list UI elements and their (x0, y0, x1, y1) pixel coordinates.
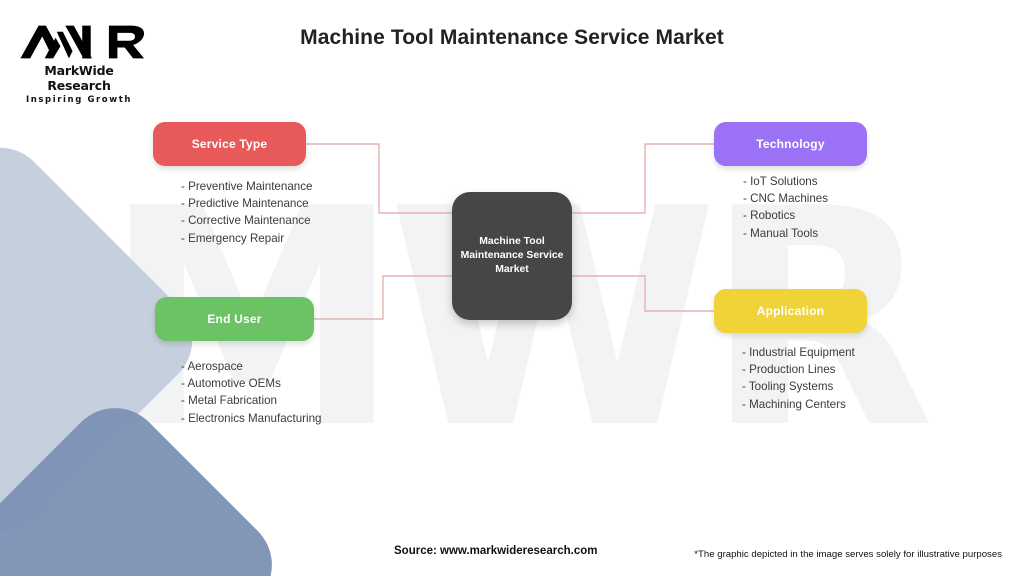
list-item: - Predictive Maintenance (181, 195, 312, 212)
connector-end-user (314, 276, 452, 319)
center-line-2: Maintenance Service (461, 250, 564, 261)
list-item: - Aerospace (181, 358, 321, 375)
source-text: Source: www.markwideresearch.com (394, 545, 597, 557)
disclaimer-text: *The graphic depicted in the image serve… (694, 549, 1002, 560)
list-item: - Metal Fabrication (181, 392, 321, 409)
connector-service-type (306, 144, 452, 213)
branch-list-service-type: - Preventive Maintenance - Predictive Ma… (181, 178, 312, 247)
connector-application (572, 276, 714, 311)
list-item: - Industrial Equipment (742, 344, 855, 361)
infographic-canvas: MWR MarkWide Research Inspiring Growth M… (0, 0, 1024, 576)
list-item: - CNC Machines (743, 190, 828, 207)
list-item: - Manual Tools (743, 225, 828, 242)
list-item: - IoT Solutions (743, 173, 828, 190)
branch-list-application: - Industrial Equipment - Production Line… (742, 344, 855, 413)
branch-pill-service-type[interactable]: Service Type (153, 122, 306, 166)
branch-list-technology: - IoT Solutions - CNC Machines - Robotic… (743, 173, 828, 242)
list-item: - Production Lines (742, 361, 855, 378)
branch-label-technology: Technology (756, 137, 824, 151)
center-node-label: Machine Tool Maintenance Service Market (453, 235, 572, 277)
list-item: - Preventive Maintenance (181, 178, 312, 195)
list-item: - Electronics Manufacturing (181, 410, 321, 427)
list-item: - Corrective Maintenance (181, 212, 312, 229)
branch-label-application: Application (757, 304, 825, 318)
list-item: - Robotics (743, 207, 828, 224)
connector-technology (572, 144, 714, 213)
center-line-1: Machine Tool (479, 236, 545, 247)
branch-label-service-type: Service Type (192, 137, 268, 151)
list-item: - Automotive OEMs (181, 375, 321, 392)
center-node[interactable]: Machine Tool Maintenance Service Market (452, 192, 572, 320)
branch-pill-technology[interactable]: Technology (714, 122, 867, 166)
list-item: - Emergency Repair (181, 230, 312, 247)
list-item: - Tooling Systems (742, 378, 855, 395)
list-item: - Machining Centers (742, 396, 855, 413)
center-line-3: Market (495, 264, 529, 275)
branch-pill-application[interactable]: Application (714, 289, 867, 333)
branch-list-end-user: - Aerospace - Automotive OEMs - Metal Fa… (181, 358, 321, 427)
branch-label-end-user: End User (207, 312, 261, 326)
branch-pill-end-user[interactable]: End User (155, 297, 314, 341)
